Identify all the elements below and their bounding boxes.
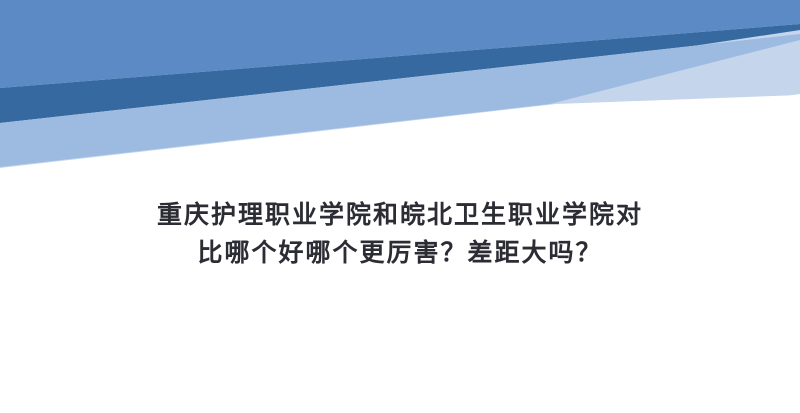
- page-title: 重庆护理职业学院和皖北卫生职业学院对 比哪个好哪个更厉害？差距大吗？: [0, 196, 800, 272]
- page-title-line-2: 比哪个好哪个更厉害？差距大吗？: [0, 234, 800, 272]
- slide-page: 重庆护理职业学院和皖北卫生职业学院对 比哪个好哪个更厉害？差距大吗？: [0, 0, 800, 413]
- banner-graphic: [0, 0, 800, 170]
- page-title-line-1: 重庆护理职业学院和皖北卫生职业学院对: [0, 196, 800, 234]
- decorative-banner: [0, 0, 800, 170]
